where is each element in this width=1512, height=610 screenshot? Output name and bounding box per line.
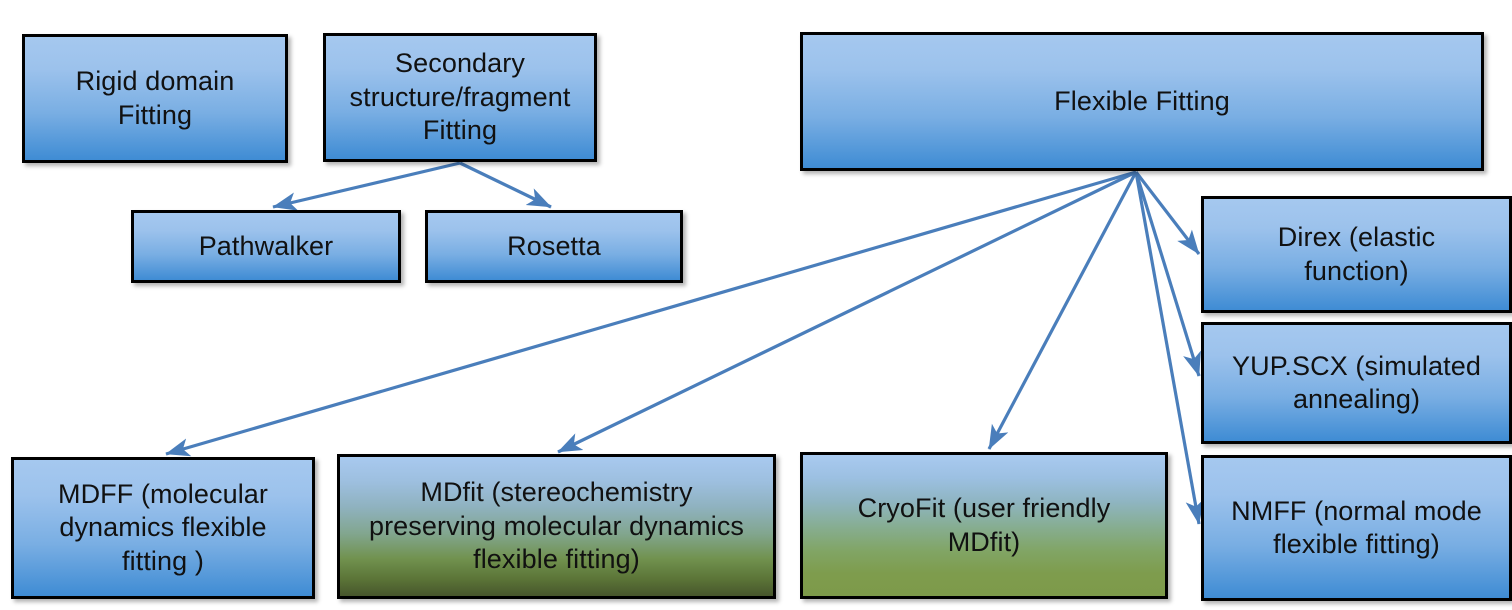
node-label: Secondarystructure/fragmentFitting [350,47,571,147]
node-label: Rigid domainFitting [76,65,235,132]
node-pathwalker[interactable]: Pathwalker [131,210,401,283]
node-label: Pathwalker [199,230,334,263]
node-label: MDFF (moleculardynamics flexiblefitting … [58,478,268,578]
node-rigid-domain-fitting[interactable]: Rigid domainFitting [22,34,288,163]
node-label: Direx (elasticfunction) [1278,221,1435,288]
node-label-line: flexible fitting) [369,543,744,576]
connector-ss-to-pathwalker [273,163,460,207]
node-label: YUP.SCX (simulatedannealing) [1232,350,1481,417]
node-label-line: Pathwalker [199,230,334,263]
node-label-line: Flexible Fitting [1054,85,1230,118]
node-cryofit[interactable]: CryoFit (user friendlyMDfit) [800,452,1168,599]
node-secondary-structure-fragment-fitting[interactable]: Secondarystructure/fragmentFitting [323,33,597,162]
node-label-line: Fitting [350,114,571,147]
node-label: Rosetta [507,230,601,263]
node-flexible-fitting[interactable]: Flexible Fitting [800,32,1484,171]
node-label-line: Fitting [76,99,235,132]
node-label-line: function) [1278,255,1435,288]
diagram-canvas: Rigid domainFittingSecondarystructure/fr… [0,0,1512,610]
node-label-line: flexible fitting) [1231,528,1482,561]
node-label-line: structure/fragment [350,81,571,114]
node-label-line: dynamics flexible [58,511,268,544]
node-label-line: Direx (elastic [1278,221,1435,254]
connector-ff-to-direx [1136,172,1199,254]
node-label-line: fitting ) [58,545,268,578]
node-label: CryoFit (user friendlyMDfit) [858,492,1111,559]
node-mdff[interactable]: MDFF (moleculardynamics flexiblefitting … [11,457,315,599]
connector-ff-to-cryofit [989,172,1136,449]
node-label-line: MDFF (molecular [58,478,268,511]
node-label-line: Rosetta [507,230,601,263]
node-label-line: NMFF (normal mode [1231,495,1482,528]
node-label-line: preserving molecular dynamics [369,510,744,543]
node-direx[interactable]: Direx (elasticfunction) [1201,196,1512,313]
node-label: Flexible Fitting [1054,85,1230,118]
node-label: NMFF (normal modeflexible fitting) [1231,495,1482,562]
connector-ff-to-yupscx [1136,172,1199,376]
node-mdfit[interactable]: MDfit (stereochemistrypreserving molecul… [337,454,776,599]
connector-ss-to-rosetta [460,163,551,207]
node-yupscx[interactable]: YUP.SCX (simulatedannealing) [1201,322,1512,444]
node-rosetta[interactable]: Rosetta [425,210,683,283]
node-label-line: YUP.SCX (simulated [1232,350,1481,383]
node-label-line: CryoFit (user friendly [858,492,1111,525]
node-label-line: MDfit (stereochemistry [369,476,744,509]
node-label-line: Rigid domain [76,65,235,98]
node-label-line: MDfit) [858,526,1111,559]
node-label-line: Secondary [350,47,571,80]
node-label-line: annealing) [1232,383,1481,416]
node-nmff[interactable]: NMFF (normal modeflexible fitting) [1201,455,1512,601]
node-label: MDfit (stereochemistrypreserving molecul… [369,476,744,576]
